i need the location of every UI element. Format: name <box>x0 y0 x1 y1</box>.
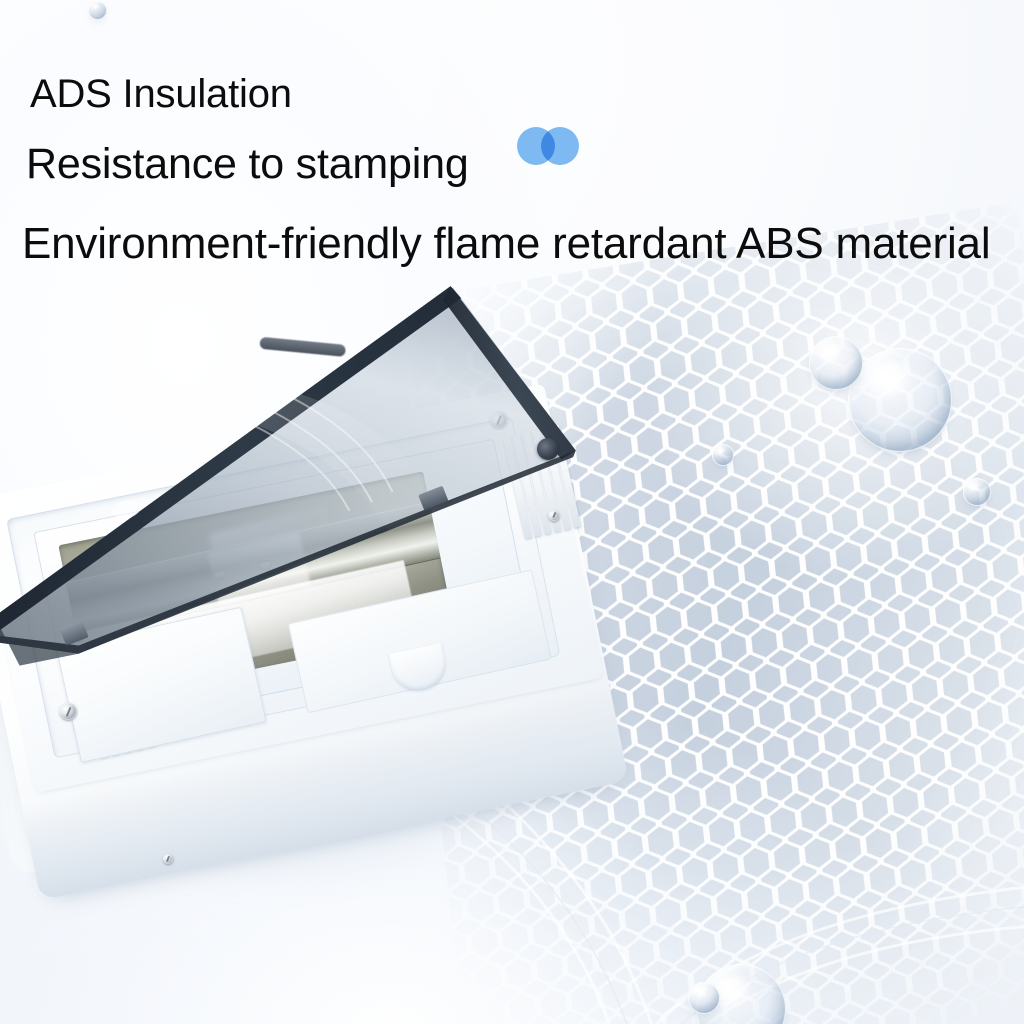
headline-line-2: Resistance to stamping <box>26 143 469 186</box>
product-banner: ADS Insulation Resistance to stamping En… <box>0 0 1024 1024</box>
water-droplet-top-edge <box>88 1 107 20</box>
two-overlapping-circles-icon <box>517 127 579 165</box>
headline-line-3: Environment-friendly flame retardant ABS… <box>22 222 990 266</box>
circle-right <box>541 127 579 165</box>
headline-line-1: ADS Insulation <box>30 74 292 114</box>
